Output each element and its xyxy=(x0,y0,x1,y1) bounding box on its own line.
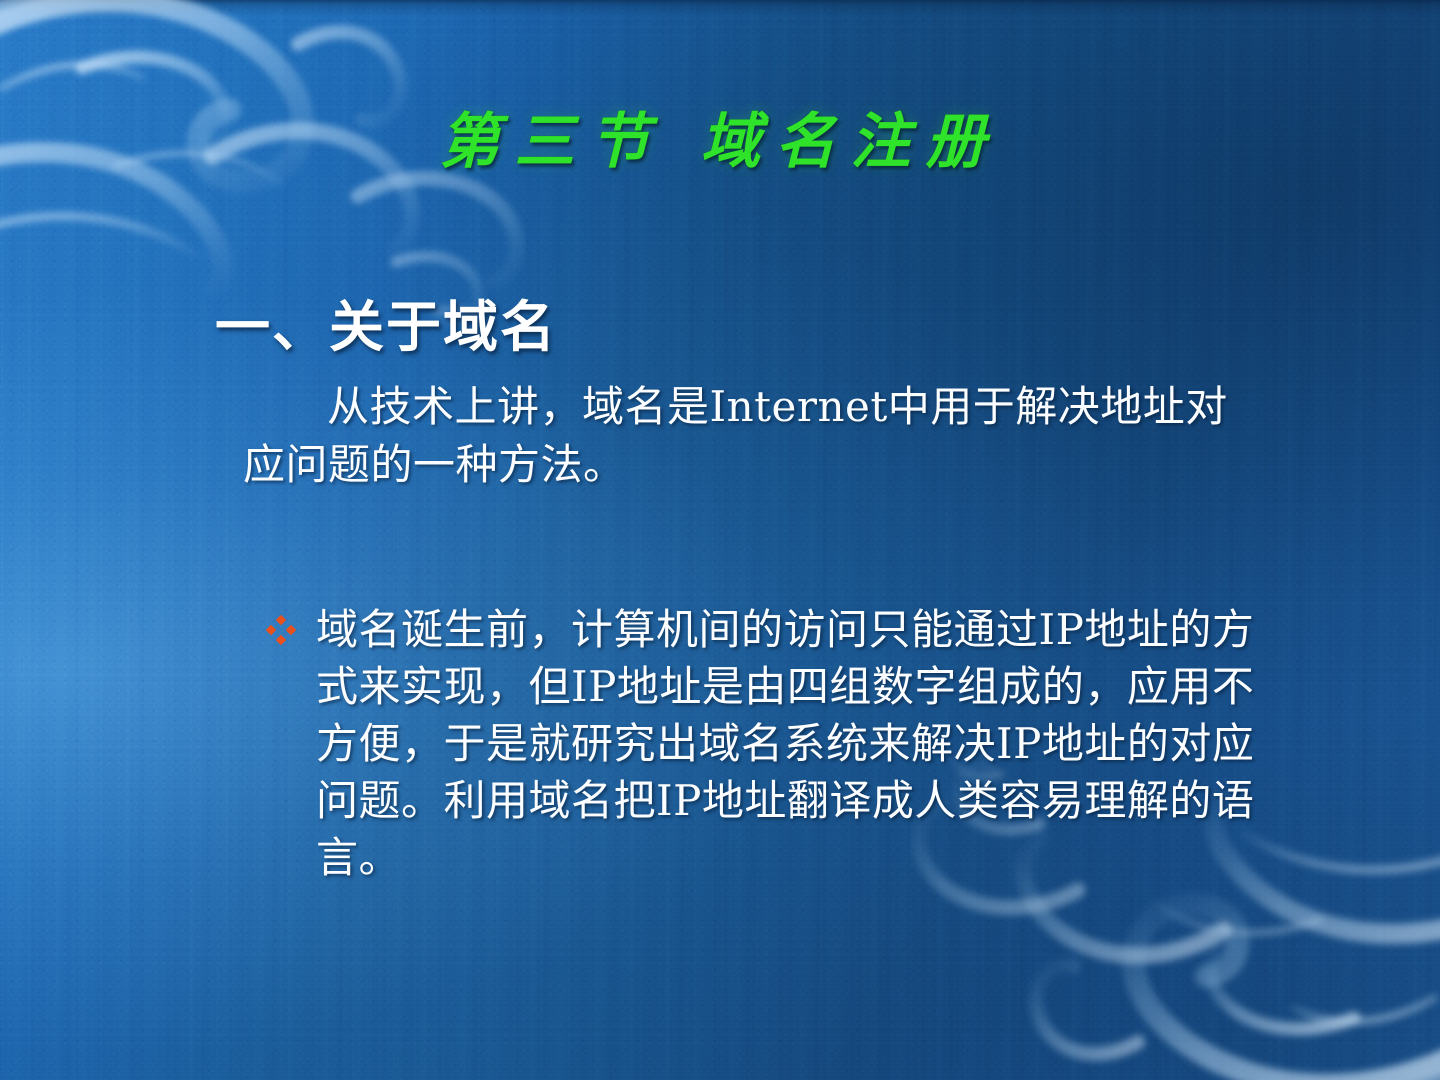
slide-content: 第三节 域名注册 一、关于域名 从技术上讲，域名是Internet中用于解决地址… xyxy=(0,0,1440,1080)
section-heading: 一、关于域名 xyxy=(215,296,557,358)
bullet-item-text: 域名诞生前，计算机间的访问只能通过IP地址的方式来实现，但IP地址是由四组数字组… xyxy=(316,601,1256,886)
diamond-cluster-bullet-icon xyxy=(266,615,296,645)
slide-title: 第三节 域名注册 xyxy=(0,106,1440,178)
bullet-list-item: 域名诞生前，计算机间的访问只能通过IP地址的方式来实现，但IP地址是由四组数字组… xyxy=(266,601,1256,886)
presentation-slide: 第三节 域名注册 一、关于域名 从技术上讲，域名是Internet中用于解决地址… xyxy=(0,0,1440,1080)
intro-paragraph: 从技术上讲，域名是Internet中用于解决地址对应问题的一种方法。 xyxy=(243,378,1253,494)
